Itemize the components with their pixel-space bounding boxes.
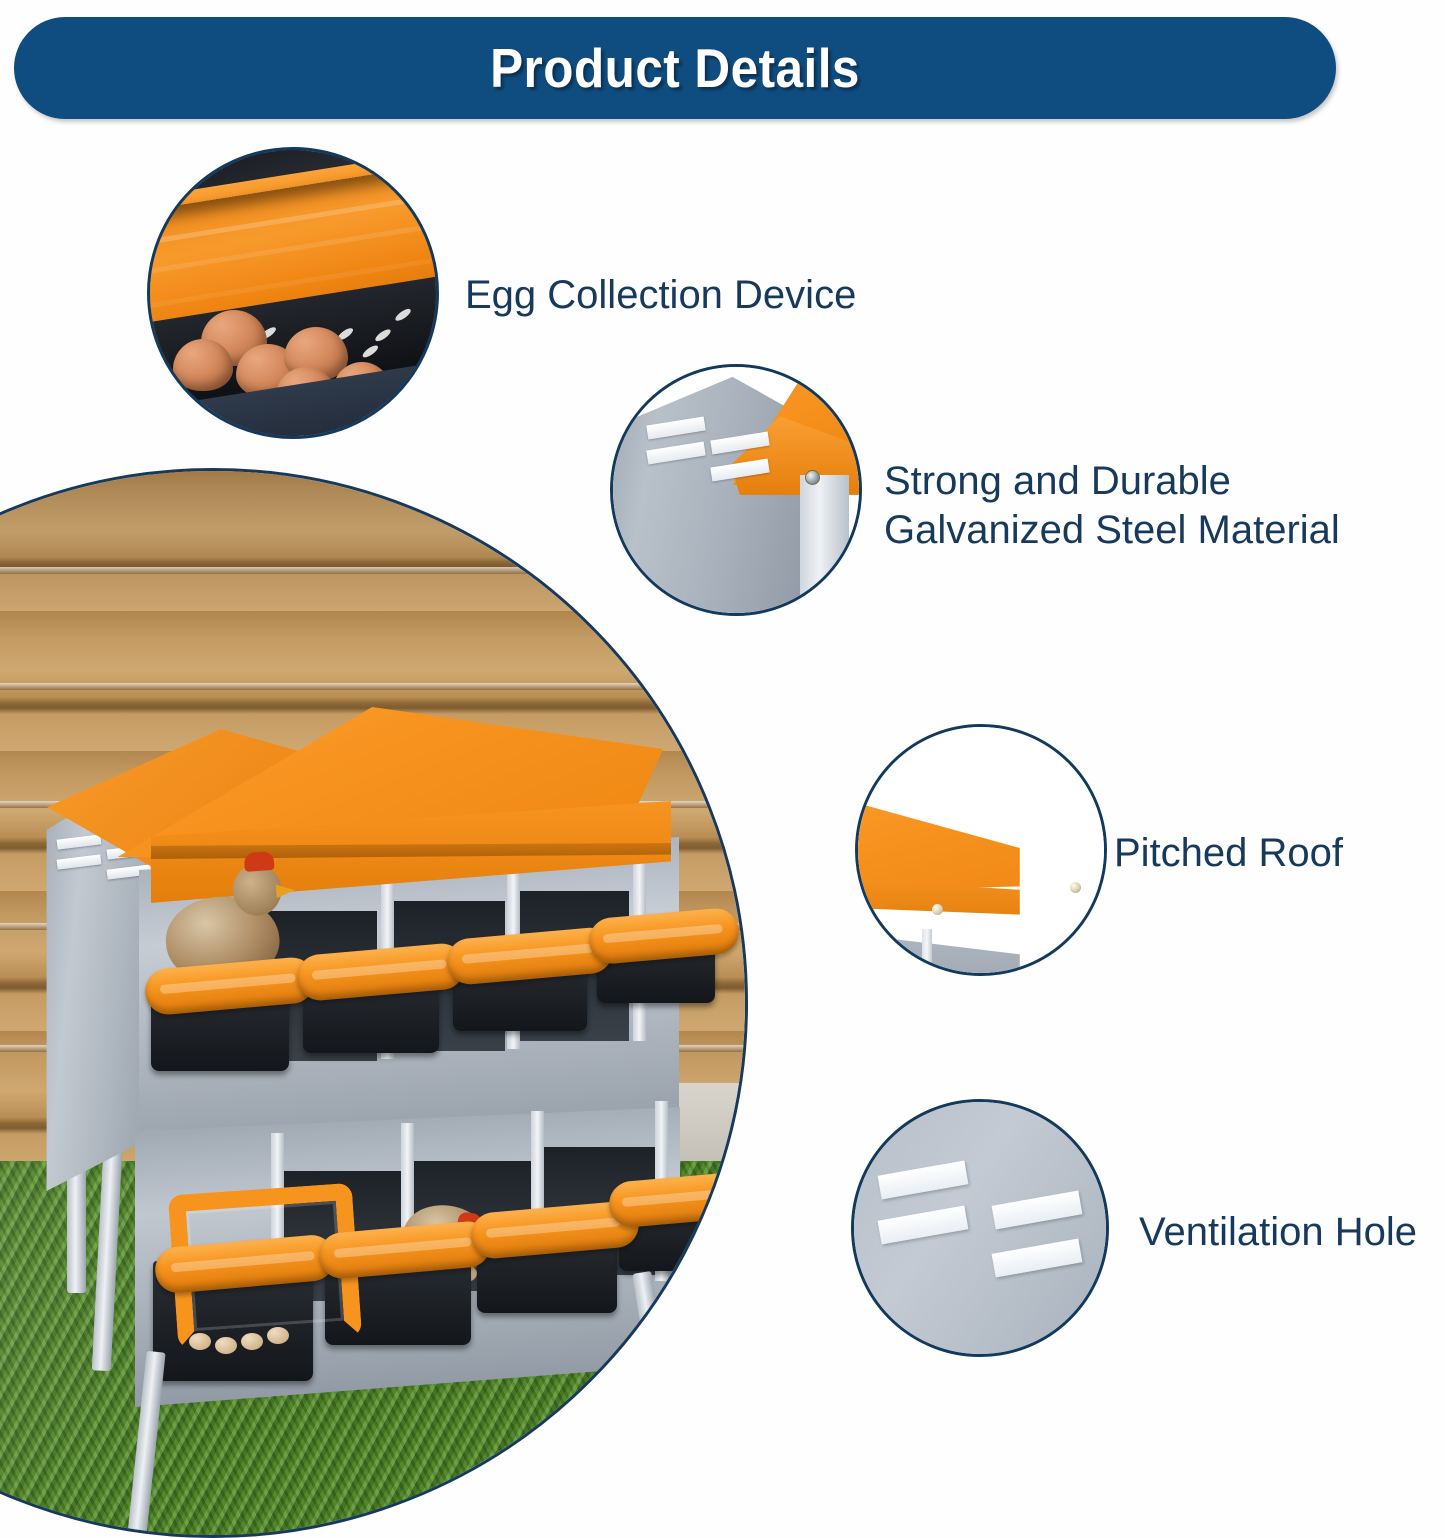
callout-ventilation-hole bbox=[851, 1099, 1109, 1357]
page-header-banner: Product Details bbox=[14, 17, 1336, 119]
main-product-photo bbox=[0, 468, 748, 1538]
roof-screw bbox=[932, 904, 943, 915]
callout-pitched-roof bbox=[855, 724, 1107, 976]
body-divider-post bbox=[922, 929, 932, 976]
ventilation-hole-photo bbox=[854, 1102, 1106, 1354]
callout-label-egg-collection: Egg Collection Device bbox=[465, 271, 935, 320]
corner-column bbox=[800, 475, 849, 616]
egg bbox=[173, 339, 233, 391]
roof-screw bbox=[1070, 882, 1081, 893]
vent-slots-icon bbox=[851, 1099, 1109, 1357]
egg-collection-photo bbox=[150, 150, 436, 436]
page-title: Product Details bbox=[80, 17, 1270, 119]
ventilation-slot bbox=[878, 1160, 969, 1199]
pitched-roof-photo bbox=[858, 727, 1104, 973]
roof-icon bbox=[855, 724, 1107, 976]
callout-label-ventilation-hole: Ventilation Hole bbox=[1139, 1208, 1445, 1257]
ventilation-slot bbox=[878, 1205, 969, 1244]
ventilation-slot bbox=[991, 1190, 1082, 1229]
callout-label-galvanized-steel: Strong and Durable Galvanized Steel Mate… bbox=[884, 457, 1424, 555]
hen-comb bbox=[244, 851, 275, 872]
coop-upper-body bbox=[855, 909, 1060, 976]
ventilation-slot bbox=[991, 1238, 1082, 1277]
product-scene bbox=[3, 471, 748, 1538]
callout-label-pitched-roof: Pitched Roof bbox=[1114, 829, 1434, 878]
callout-egg-collection bbox=[147, 147, 439, 439]
orange-roof-sliver bbox=[980, 1099, 1109, 1178]
egg-tray-icon bbox=[147, 147, 439, 439]
